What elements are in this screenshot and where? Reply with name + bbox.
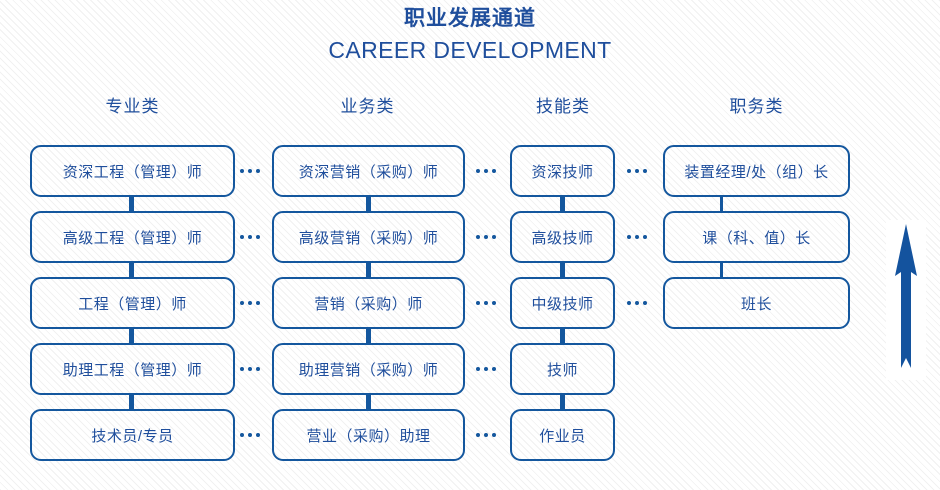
box-professional-3[interactable]: 工程（管理）师 <box>30 277 235 329</box>
connector-professional-4-5 <box>129 395 134 409</box>
column-header-professional: 专业类 <box>30 92 235 117</box>
box-professional-1[interactable]: 资深工程（管理）师 <box>30 145 235 197</box>
box-label: 中级技师 <box>531 293 593 314</box>
box-business-4[interactable]: 助理营销（采购）师 <box>272 343 465 395</box>
box-label: 作业员 <box>539 425 586 446</box>
connector-business-1-2 <box>366 197 371 211</box>
connector-professional-3-4 <box>129 329 134 343</box>
ellipsis-professional-5 <box>240 433 260 437</box>
connector-professional-1-2 <box>129 197 134 211</box>
box-business-3[interactable]: 营销（采购）师 <box>272 277 465 329</box>
ellipsis-professional-1 <box>240 169 260 173</box>
box-business-5[interactable]: 营业（采购）助理 <box>272 409 465 461</box>
box-skill-2[interactable]: 高级技师 <box>510 211 615 263</box>
box-label: 高级技师 <box>531 227 593 248</box>
box-label: 营业（采购）助理 <box>306 425 430 446</box>
ellipsis-business-1 <box>476 169 496 173</box>
box-position-3[interactable]: 班长 <box>663 277 850 329</box>
ellipsis-skill-2 <box>627 235 647 239</box>
connector-skill-4-5 <box>560 395 565 409</box>
ellipsis-business-5 <box>476 433 496 437</box>
page-title-en: CAREER DEVELOPMENT <box>0 34 940 66</box>
connector-skill-1-2 <box>560 197 565 211</box>
connector-position-1-2 <box>720 197 723 211</box>
box-label: 技师 <box>547 359 578 380</box>
career-development-diagram: 职业发展通道 CAREER DEVELOPMENT 专业类 业务类 技能类 职务… <box>0 0 940 490</box>
box-label: 装置经理/处（组）长 <box>684 161 828 182</box>
box-position-1[interactable]: 装置经理/处（组）长 <box>663 145 850 197</box>
column-header-business: 业务类 <box>270 92 465 117</box>
box-business-1[interactable]: 资深营销（采购）师 <box>272 145 465 197</box>
connector-skill-3-4 <box>560 329 565 343</box>
connector-business-2-3 <box>366 263 371 277</box>
ellipsis-skill-1 <box>627 169 647 173</box>
column-header-skill: 技能类 <box>508 92 618 117</box>
ellipsis-business-3 <box>476 301 496 305</box>
ellipsis-business-4 <box>476 367 496 371</box>
box-skill-3[interactable]: 中级技师 <box>510 277 615 329</box>
ellipsis-professional-3 <box>240 301 260 305</box>
ellipsis-skill-3 <box>627 301 647 305</box>
box-label: 班长 <box>741 293 772 314</box>
box-label: 资深工程（管理）师 <box>63 161 203 182</box>
box-label: 课（科、值）长 <box>702 227 811 248</box>
box-label: 高级营销（采购）师 <box>299 227 439 248</box>
page-title-cn: 职业发展通道 <box>0 0 940 34</box>
box-label: 助理营销（采购）师 <box>299 359 439 380</box>
ellipsis-business-2 <box>476 235 496 239</box>
box-label: 助理工程（管理）师 <box>63 359 203 380</box>
box-position-2[interactable]: 课（科、值）长 <box>663 211 850 263</box>
ellipsis-professional-4 <box>240 367 260 371</box>
box-label: 营销（采购）师 <box>314 293 423 314</box>
box-professional-5[interactable]: 技术员/专员 <box>30 409 235 461</box>
box-label: 技术员/专员 <box>91 425 173 446</box>
box-skill-4[interactable]: 技师 <box>510 343 615 395</box>
box-label: 资深营销（采购）师 <box>299 161 439 182</box>
connector-business-4-5 <box>366 395 371 409</box>
ellipsis-professional-2 <box>240 235 260 239</box>
box-label: 工程（管理）师 <box>78 293 187 314</box>
connector-skill-2-3 <box>560 263 565 277</box>
connector-business-3-4 <box>366 329 371 343</box>
growth-direction-panel <box>886 220 926 380</box>
box-business-2[interactable]: 高级营销（采购）师 <box>272 211 465 263</box>
connector-professional-2-3 <box>129 263 134 277</box>
box-label: 高级工程（管理）师 <box>63 227 203 248</box>
connector-position-2-3 <box>720 263 723 277</box>
title-block: 职业发展通道 CAREER DEVELOPMENT <box>0 0 940 66</box>
box-professional-2[interactable]: 高级工程（管理）师 <box>30 211 235 263</box>
up-arrow-icon <box>886 220 926 380</box>
column-header-position: 职务类 <box>663 92 850 117</box>
box-skill-5[interactable]: 作业员 <box>510 409 615 461</box>
box-skill-1[interactable]: 资深技师 <box>510 145 615 197</box>
box-professional-4[interactable]: 助理工程（管理）师 <box>30 343 235 395</box>
box-label: 资深技师 <box>531 161 593 182</box>
